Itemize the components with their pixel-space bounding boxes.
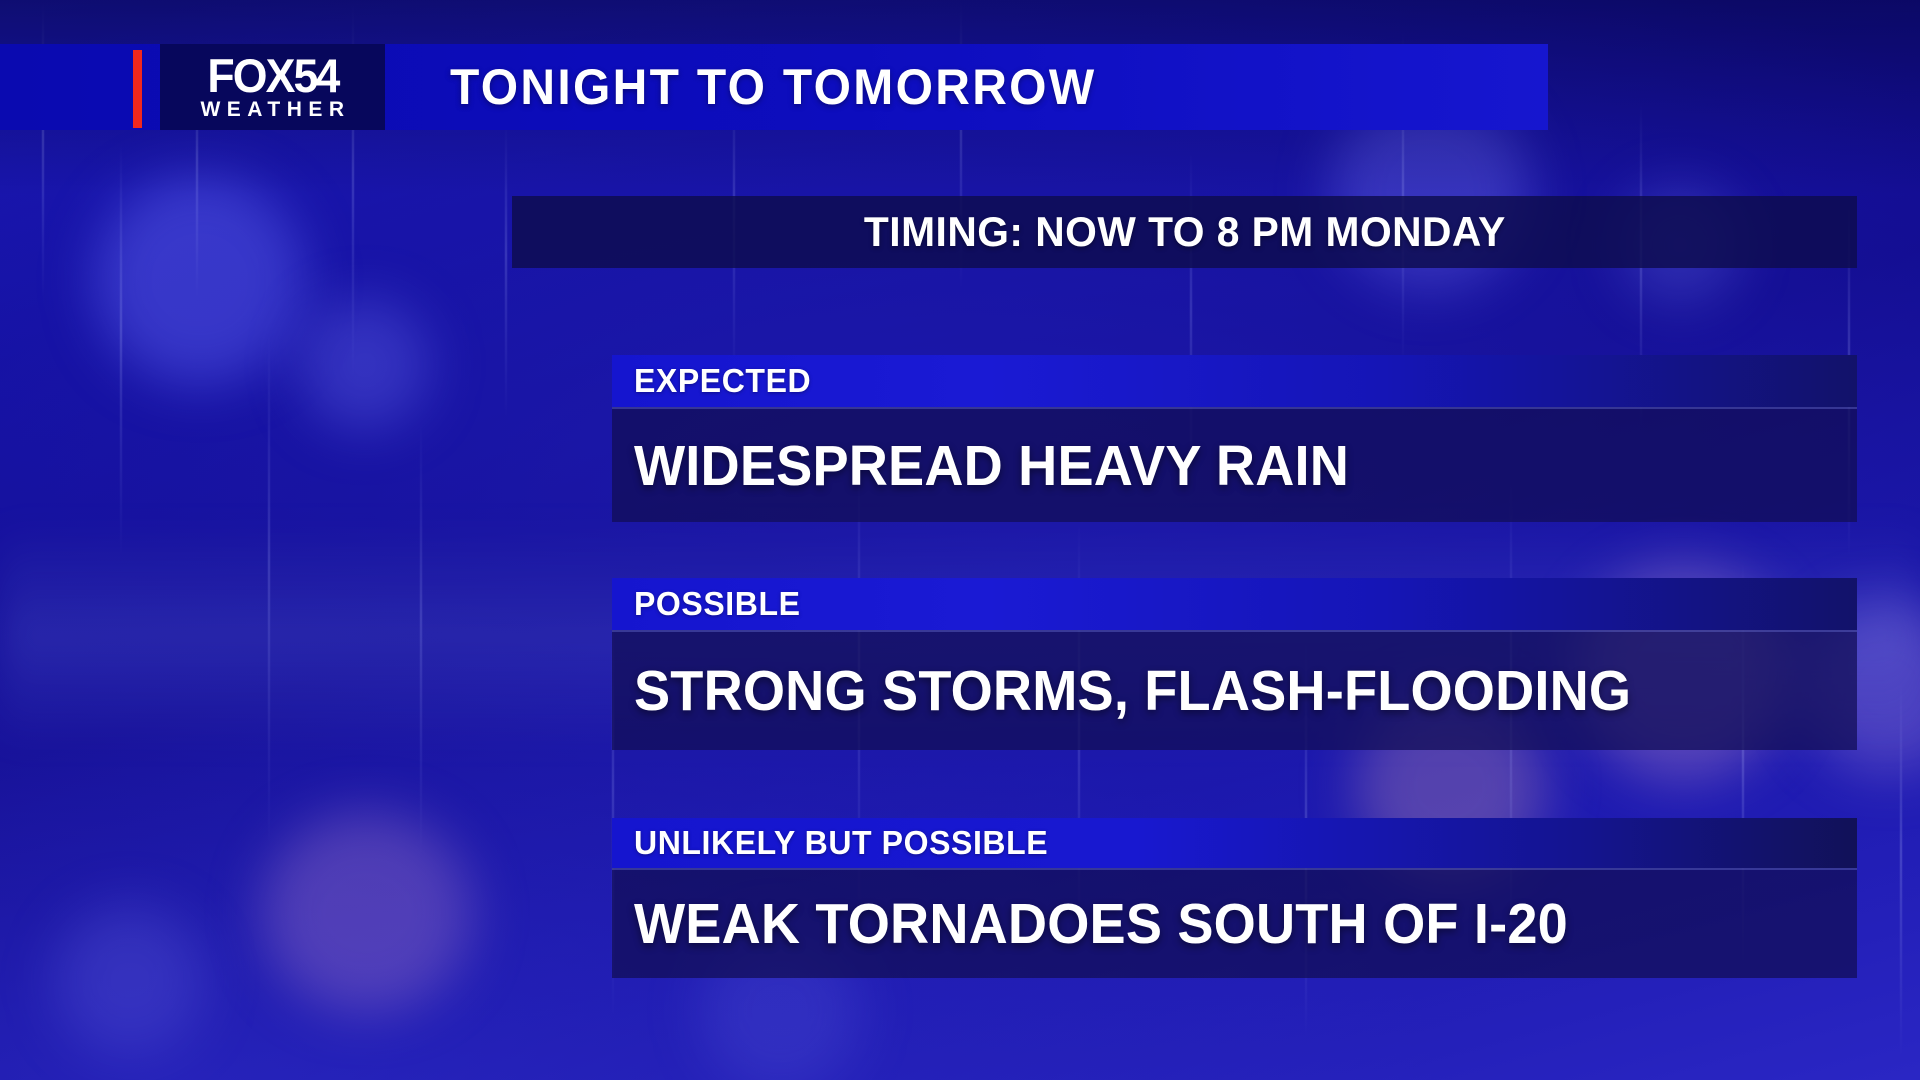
timing-bar: TIMING: NOW TO 8 PM MONDAY [512, 196, 1857, 268]
risk-label-band: UNLIKELY BUT POSSIBLE [612, 818, 1857, 868]
risk-block-expected: EXPECTED WIDESPREAD HEAVY RAIN [612, 355, 1857, 522]
risk-label-text: POSSIBLE [634, 585, 801, 623]
logo-fox-text: FOX [207, 49, 293, 102]
risk-block-unlikely: UNLIKELY BUT POSSIBLE WEAK TORNADOES SOU… [612, 818, 1857, 978]
logo-primary-text: FOX54 [207, 54, 337, 97]
risk-label-band: EXPECTED [612, 355, 1857, 407]
risk-label-text: UNLIKELY BUT POSSIBLE [634, 824, 1048, 862]
risk-value-text: WEAK TORNADOES SOUTH OF I-20 [634, 891, 1568, 957]
header-bar: FOX54 WEATHER TONIGHT TO TOMORROW [0, 44, 1548, 130]
risk-label-band: POSSIBLE [612, 578, 1857, 630]
logo-secondary-text: WEATHER [194, 99, 350, 120]
risk-label-text: EXPECTED [634, 362, 811, 400]
timing-text: TIMING: NOW TO 8 PM MONDAY [864, 208, 1506, 256]
risk-value-band: WIDESPREAD HEAVY RAIN [612, 407, 1857, 522]
risk-value-band: WEAK TORNADOES SOUTH OF I-20 [612, 868, 1857, 978]
page-title: TONIGHT TO TOMORROW [450, 44, 1096, 130]
weather-graphic-stage: FOX54 WEATHER TONIGHT TO TOMORROW TIMING… [0, 0, 1920, 1080]
accent-bar [133, 50, 142, 128]
risk-value-band: STRONG STORMS, FLASH-FLOODING [612, 630, 1857, 750]
risk-block-possible: POSSIBLE STRONG STORMS, FLASH-FLOODING [612, 578, 1857, 750]
risk-value-text: WIDESPREAD HEAVY RAIN [634, 433, 1349, 499]
risk-value-text: STRONG STORMS, FLASH-FLOODING [634, 658, 1631, 724]
logo-channel-number: 54 [294, 49, 338, 102]
fox54-weather-logo: FOX54 WEATHER [160, 44, 385, 130]
